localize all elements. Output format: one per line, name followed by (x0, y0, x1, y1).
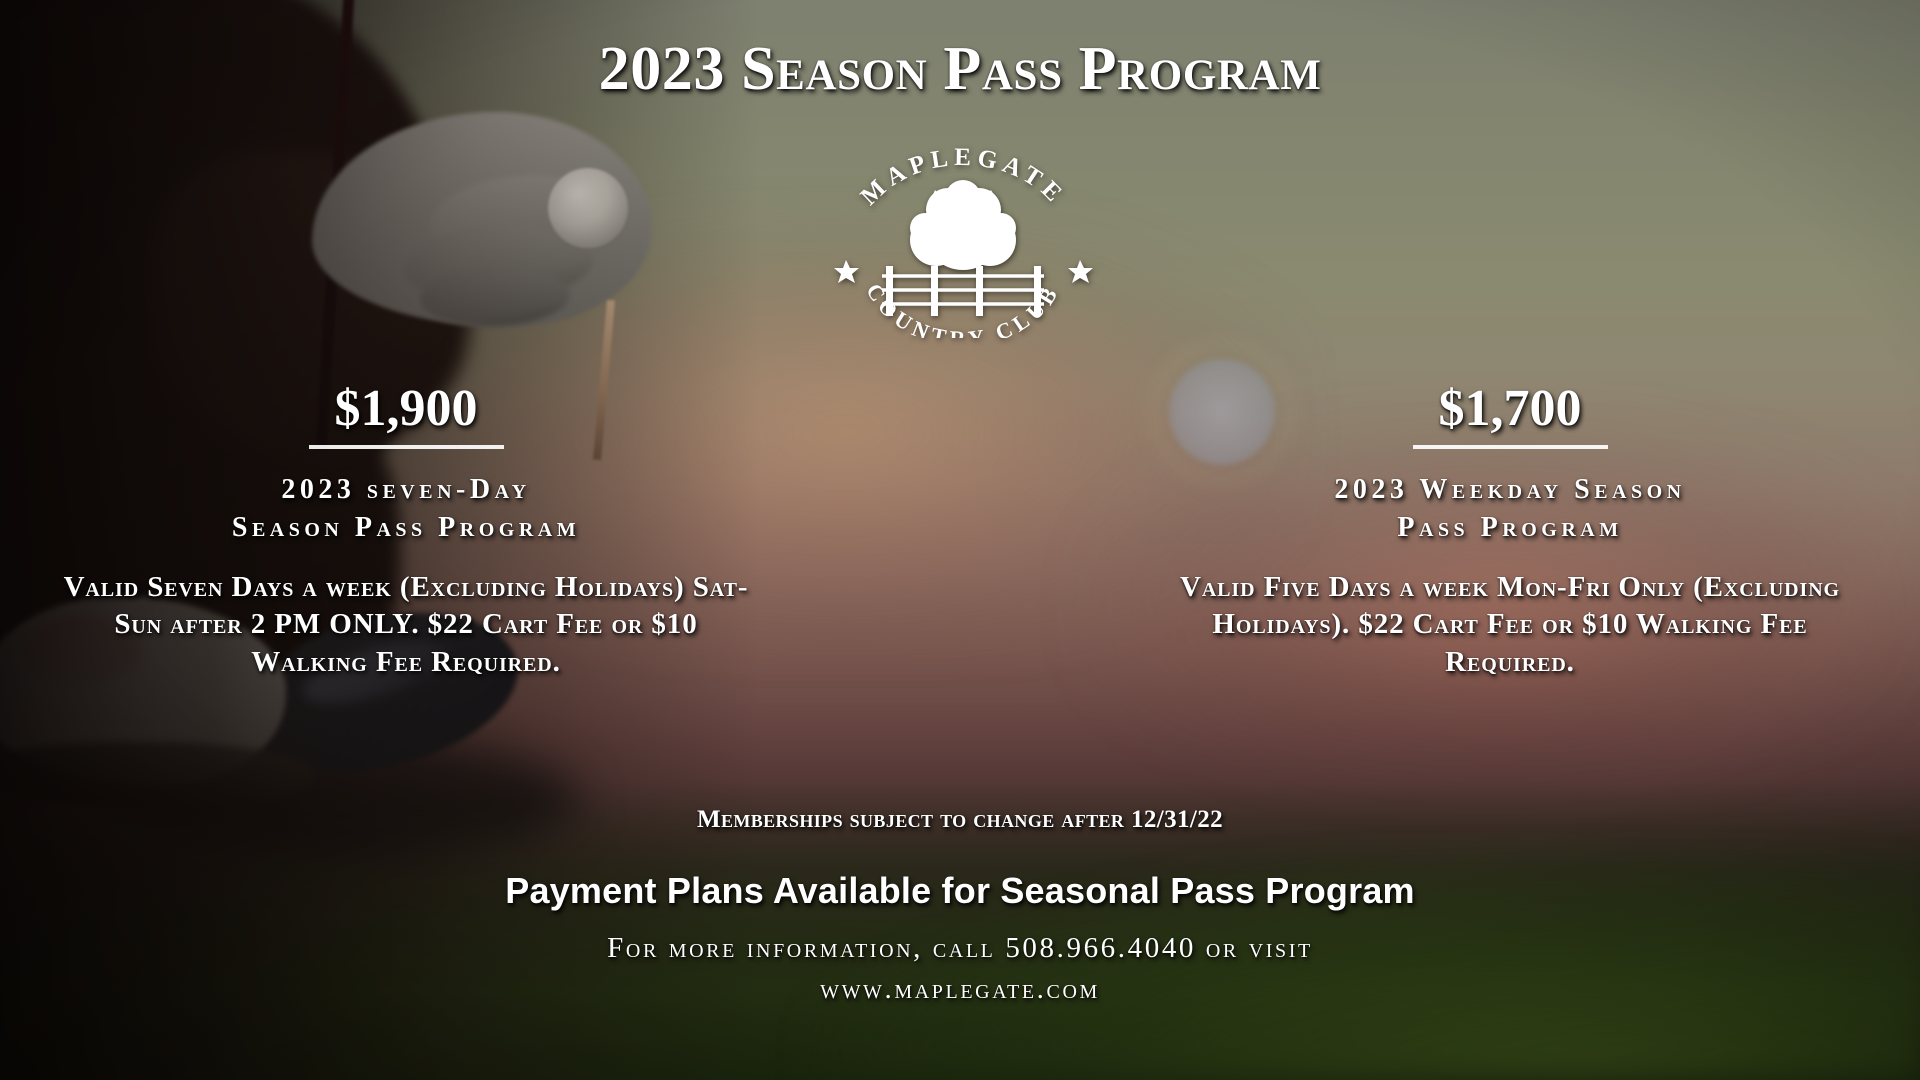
poster-content: 2023 Season Pass Program (0, 0, 1920, 1080)
plan-description: Valid Five Days a week Mon-Fri Only (Exc… (1160, 569, 1860, 682)
contact-line-website: www.maplegate.com (0, 969, 1920, 1010)
plan-subtitle: 2023 Weekday Season Pass Program (1160, 471, 1860, 547)
contact-line-phone: For more information, call 508.966.4040 … (0, 928, 1920, 969)
maplegate-country-club-logo: MAPLEGATE COUNTRY CLUB (822, 142, 1104, 338)
page-title: 2023 Season Pass Program (0, 34, 1920, 105)
season-pass-promo-poster: 2023 Season Pass Program (0, 0, 1920, 1080)
membership-change-note: Memberships subject to change after 12/3… (0, 806, 1920, 834)
plan-subtitle: 2023 seven-Day Season Pass Program (56, 471, 756, 547)
contact-info: For more information, call 508.966.4040 … (0, 928, 1920, 1010)
plan-card-seven-day: $1,900 2023 seven-Day Season Pass Progra… (56, 382, 756, 682)
payment-plans-headline: Payment Plans Available for Seasonal Pas… (0, 870, 1920, 912)
plan-subtitle-line2: Pass Program (1160, 509, 1860, 547)
plan-card-weekday: $1,700 2023 Weekday Season Pass Program … (1160, 382, 1860, 682)
plan-price: $1,700 (1413, 382, 1608, 449)
plan-description: Valid Seven Days a week (Excluding Holid… (56, 569, 756, 682)
plan-price: $1,900 (309, 382, 504, 449)
plan-subtitle-line1: 2023 seven-Day (56, 471, 756, 509)
plan-subtitle-line2: Season Pass Program (56, 509, 756, 547)
plan-subtitle-line1: 2023 Weekday Season (1160, 471, 1860, 509)
